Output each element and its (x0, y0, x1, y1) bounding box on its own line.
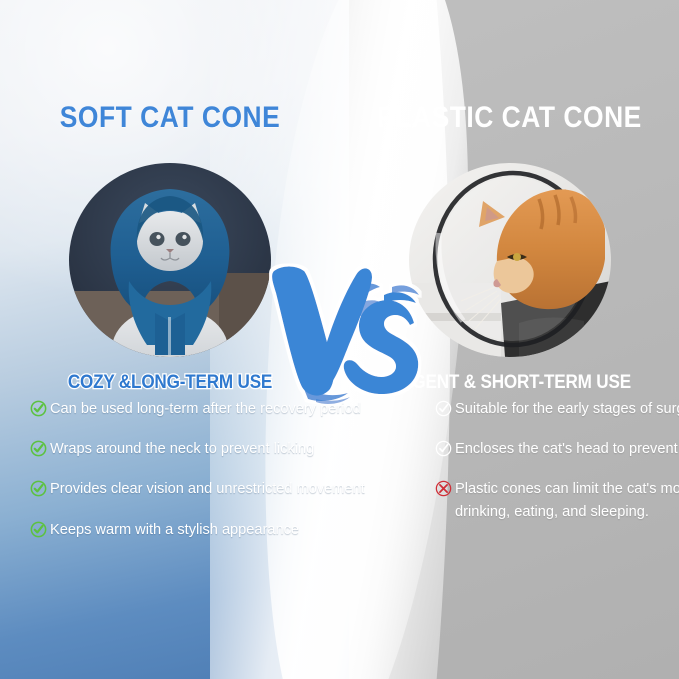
list-item-label: Suitable for the early stages of surgery… (455, 398, 679, 420)
check-circle-icon (30, 480, 47, 497)
check-circle-icon (30, 521, 47, 538)
list-item-label: Plastic cones can limit the cat's moveme… (455, 478, 679, 522)
right-panel-title: PLASTIC CAT CONE (360, 101, 658, 135)
left-bullet-list: Can be used long-term after the recovery… (0, 398, 384, 559)
list-item: Plastic cones can limit the cat's moveme… (435, 478, 679, 522)
list-item: Suitable for the early stages of surgery… (435, 398, 679, 420)
cross-circle-icon (435, 480, 452, 497)
list-item: Encloses the cat's head to prevent licki… (435, 438, 679, 460)
list-item: Provides clear vision and unrestricted m… (30, 478, 370, 500)
right-bullet-list: Suitable for the early stages of surgery… (340, 398, 679, 541)
comparison-poster: SOFT CAT CONE (0, 0, 679, 679)
list-item: Keeps warm with a stylish appearance (30, 519, 370, 541)
vs-brush-icon (264, 249, 424, 404)
check-circle-icon (435, 400, 452, 417)
check-circle-icon (435, 440, 452, 457)
list-item-label: Wraps around the neck to prevent licking (50, 438, 314, 460)
check-circle-icon (30, 400, 47, 417)
list-item-label: Provides clear vision and unrestricted m… (50, 478, 365, 500)
check-circle-icon (30, 440, 47, 457)
list-item-label: Encloses the cat's head to prevent licki… (455, 438, 679, 460)
list-item: Wraps around the neck to prevent licking (30, 438, 370, 460)
left-panel-title: SOFT CAT CONE (20, 101, 319, 135)
left-product-photo (69, 163, 271, 357)
list-item-label: Keeps warm with a stylish appearance (50, 519, 299, 541)
right-product-photo (409, 163, 611, 357)
